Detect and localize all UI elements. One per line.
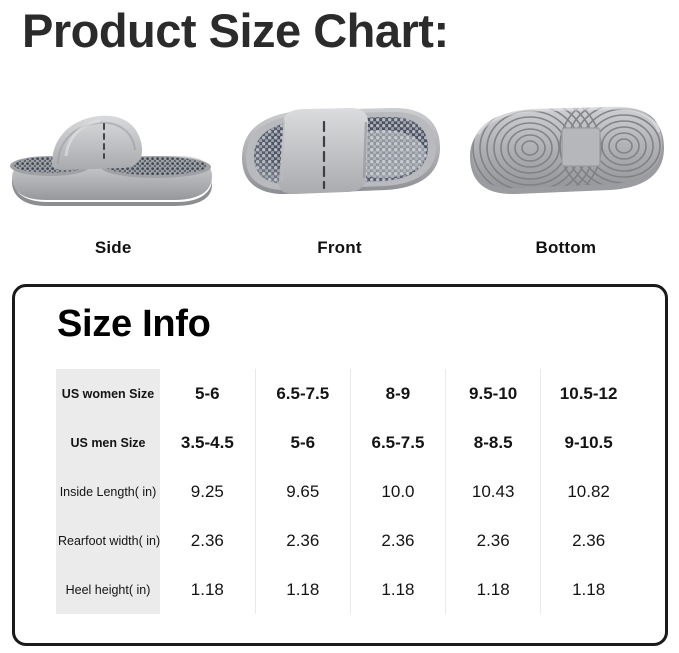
cell-men-size-3: 6.5-7.5: [350, 418, 445, 467]
size-info-heading: Size Info: [57, 301, 211, 347]
view-label-front: Front: [226, 238, 452, 258]
table-row: US women Size 5-6 6.5-7.5 8-9 9.5-10 10.…: [56, 369, 636, 418]
cell-heel-height-2: 1.18: [255, 565, 350, 614]
table-row: Rearfoot width( in) 2.36 2.36 2.36 2.36 …: [56, 516, 636, 565]
cell-women-size-4: 9.5-10: [446, 369, 541, 418]
cell-women-size-3: 8-9: [350, 369, 445, 418]
cell-men-size-5: 9-10.5: [541, 418, 636, 467]
cell-rearfoot-width-3: 2.36: [350, 516, 445, 565]
product-size-chart-page: Product Size Chart:: [0, 0, 679, 653]
page-title: Product Size Chart:: [22, 2, 449, 60]
cell-rearfoot-width-4: 2.36: [446, 516, 541, 565]
cell-inside-length-2: 9.65: [255, 467, 350, 516]
cell-heel-height-5: 1.18: [541, 565, 636, 614]
cell-rearfoot-width-2: 2.36: [255, 516, 350, 565]
cell-rearfoot-width-5: 2.36: [541, 516, 636, 565]
product-view-strip: Side: [0, 82, 679, 262]
product-view-front: Front: [226, 82, 452, 262]
size-table-body: US women Size 5-6 6.5-7.5 8-9 9.5-10 10.…: [56, 369, 636, 614]
sandal-front-view-icon: [226, 82, 452, 224]
table-row: US men Size 3.5-4.5 5-6 6.5-7.5 8-8.5 9-…: [56, 418, 636, 467]
product-view-side: Side: [0, 82, 226, 262]
row-label-rearfoot-width: Rearfoot width( in): [56, 516, 160, 565]
cell-men-size-2: 5-6: [255, 418, 350, 467]
cell-inside-length-3: 10.0: [350, 467, 445, 516]
sandal-bottom-view-icon: [453, 82, 679, 224]
cell-heel-height-1: 1.18: [160, 565, 255, 614]
cell-inside-length-5: 10.82: [541, 467, 636, 516]
cell-men-size-4: 8-8.5: [446, 418, 541, 467]
cell-women-size-5: 10.5-12: [541, 369, 636, 418]
row-label-inside-length: Inside Length( in): [56, 467, 160, 516]
size-info-table: US women Size 5-6 6.5-7.5 8-9 9.5-10 10.…: [56, 369, 636, 614]
cell-inside-length-1: 9.25: [160, 467, 255, 516]
product-view-bottom: Bottom: [453, 82, 679, 262]
cell-inside-length-4: 10.43: [446, 467, 541, 516]
view-label-side: Side: [0, 238, 226, 258]
table-row: Inside Length( in) 9.25 9.65 10.0 10.43 …: [56, 467, 636, 516]
cell-women-size-1: 5-6: [160, 369, 255, 418]
cell-heel-height-4: 1.18: [446, 565, 541, 614]
sandal-side-view-icon: [0, 82, 226, 224]
cell-rearfoot-width-1: 2.36: [160, 516, 255, 565]
row-label-heel-height: Heel height( in): [56, 565, 160, 614]
row-label-us-men-size: US men Size: [56, 418, 160, 467]
row-label-us-women-size: US women Size: [56, 369, 160, 418]
view-label-bottom: Bottom: [453, 238, 679, 258]
cell-women-size-2: 6.5-7.5: [255, 369, 350, 418]
cell-men-size-1: 3.5-4.5: [160, 418, 255, 467]
table-row: Heel height( in) 1.18 1.18 1.18 1.18 1.1…: [56, 565, 636, 614]
size-info-panel: Size Info US women Size 5-6 6.5-7.5 8-9 …: [12, 284, 668, 646]
cell-heel-height-3: 1.18: [350, 565, 445, 614]
